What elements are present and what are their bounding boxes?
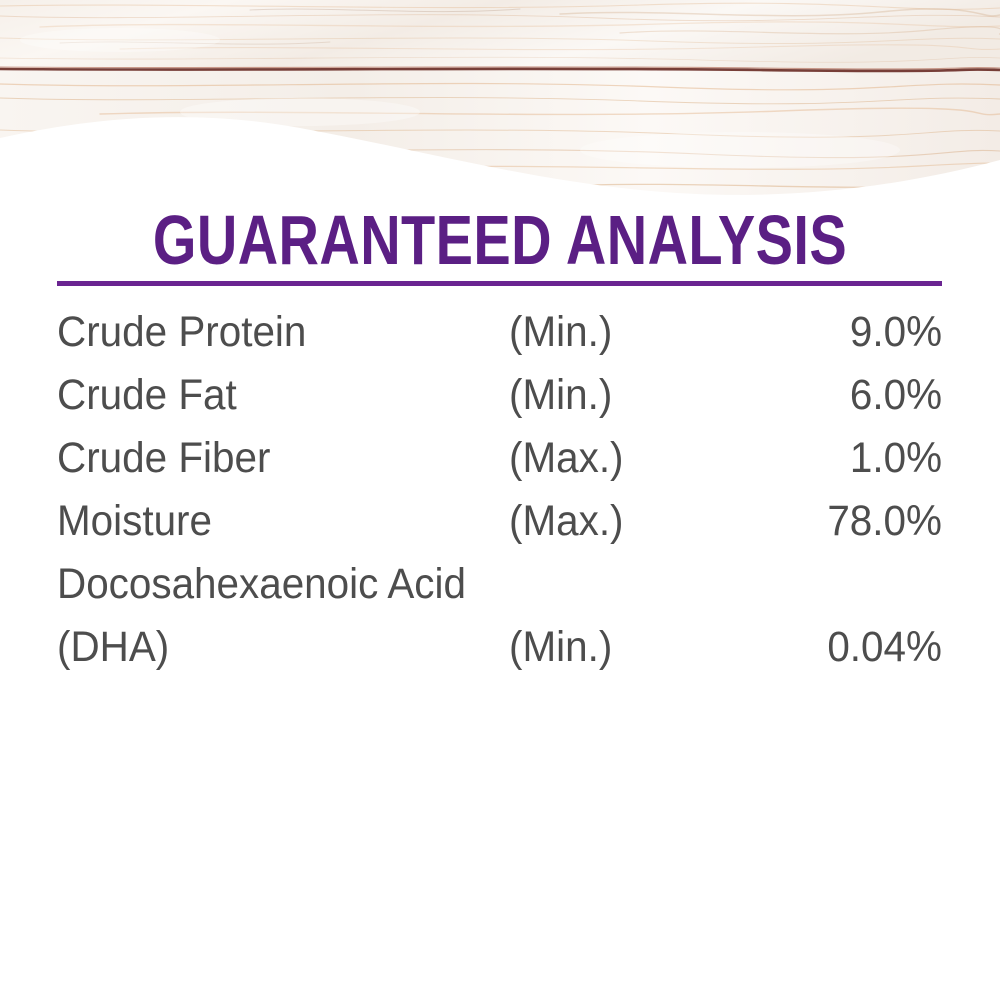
nutrient-qualifier: (Min.) <box>509 303 612 361</box>
nutrient-qualifier: (Max.) <box>509 429 624 487</box>
nutrient-value: 9.0% <box>850 303 942 361</box>
nutrient-value: 6.0% <box>850 366 942 424</box>
table-row: Docosahexaenoic Acid <box>57 555 942 618</box>
nutrient-label: Moisture <box>57 492 212 550</box>
nutrient-label: (DHA) <box>57 618 169 676</box>
nutrient-qualifier: (Min.) <box>509 366 612 424</box>
nutrient-label: Docosahexaenoic Acid <box>57 555 466 613</box>
table-row: Crude Fat (Min.) 6.0% <box>57 366 942 429</box>
page-title: GUARANTEED ANALYSIS <box>100 203 900 277</box>
nutrient-label: Crude Protein <box>57 303 306 361</box>
table-row: Moisture (Max.) 78.0% <box>57 492 942 555</box>
nutrient-qualifier: (Max.) <box>509 492 624 550</box>
nutrient-label: Crude Fat <box>57 366 237 424</box>
table-row: Crude Fiber (Max.) 1.0% <box>57 429 942 492</box>
analysis-content: GUARANTEED ANALYSIS Crude Protein (Min.)… <box>0 0 1000 1000</box>
nutrient-value: 0.04% <box>827 618 942 676</box>
guaranteed-analysis-panel: GUARANTEED ANALYSIS Crude Protein (Min.)… <box>0 0 1000 1000</box>
nutrient-value: 1.0% <box>850 429 942 487</box>
guaranteed-analysis-table: Crude Protein (Min.) 9.0% Crude Fat (Min… <box>57 303 942 681</box>
nutrient-qualifier: (Min.) <box>509 618 612 676</box>
title-divider-rule <box>57 281 942 286</box>
nutrient-value: 78.0% <box>827 492 942 550</box>
table-row: Crude Protein (Min.) 9.0% <box>57 303 942 366</box>
table-row: (DHA) (Min.) 0.04% <box>57 618 942 681</box>
nutrient-label: Crude Fiber <box>57 429 270 487</box>
